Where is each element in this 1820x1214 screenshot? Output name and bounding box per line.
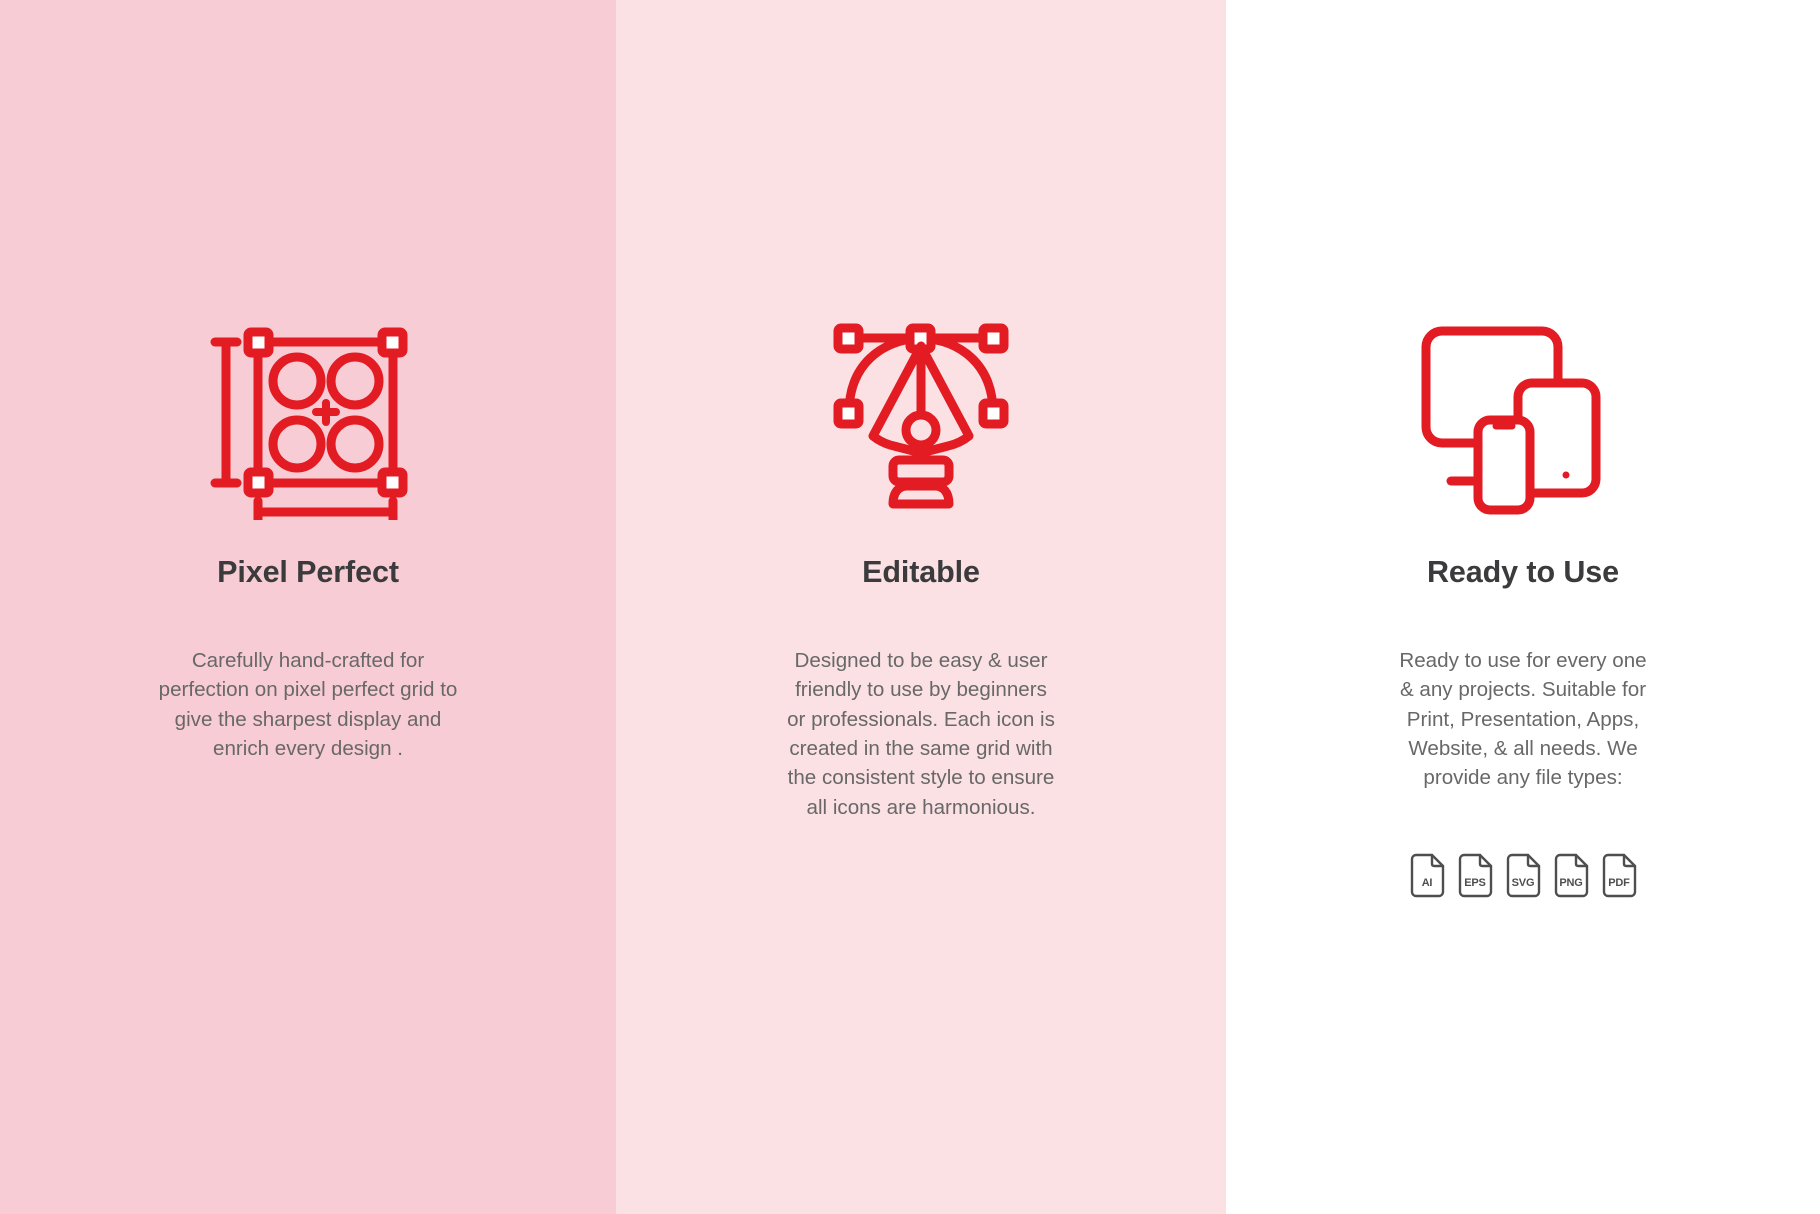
column-pixel-perfect: Pixel Perfect Carefully hand-crafted for…: [0, 0, 616, 1214]
column-heading: Ready to Use: [1427, 556, 1619, 590]
devices-icon: [1226, 290, 1820, 550]
file-type-list: AI EPS SVG PNG: [1410, 853, 1637, 898]
column-description: Ready to use for every one & any project…: [1390, 646, 1656, 793]
pixel-perfect-grid-icon: [0, 290, 616, 550]
file-type-label: PDF: [1602, 877, 1637, 889]
file-type-label: AI: [1410, 877, 1445, 889]
pen-tool-icon: [616, 290, 1226, 550]
file-type-label: SVG: [1506, 877, 1541, 889]
column-editable: Editable Designed to be easy & user frie…: [616, 0, 1226, 1214]
column-ready-to-use: Ready to Use Ready to use for every one …: [1226, 0, 1820, 1214]
column-description: Designed to be easy & user friendly to u…: [785, 646, 1057, 822]
file-type-label: EPS: [1458, 877, 1493, 889]
file-type-badge-pdf: PDF: [1602, 853, 1637, 898]
file-type-badge-svg: SVG: [1506, 853, 1541, 898]
column-heading: Pixel Perfect: [217, 556, 399, 590]
feature-columns-graphic: Pixel Perfect Carefully hand-crafted for…: [0, 0, 1820, 1214]
file-type-badge-eps: EPS: [1458, 853, 1493, 898]
column-description: Carefully hand-crafted for perfection on…: [158, 646, 458, 764]
file-type-badge-ai: AI: [1410, 853, 1445, 898]
column-heading: Editable: [862, 556, 980, 590]
file-type-badge-png: PNG: [1554, 853, 1589, 898]
file-type-label: PNG: [1554, 877, 1589, 889]
